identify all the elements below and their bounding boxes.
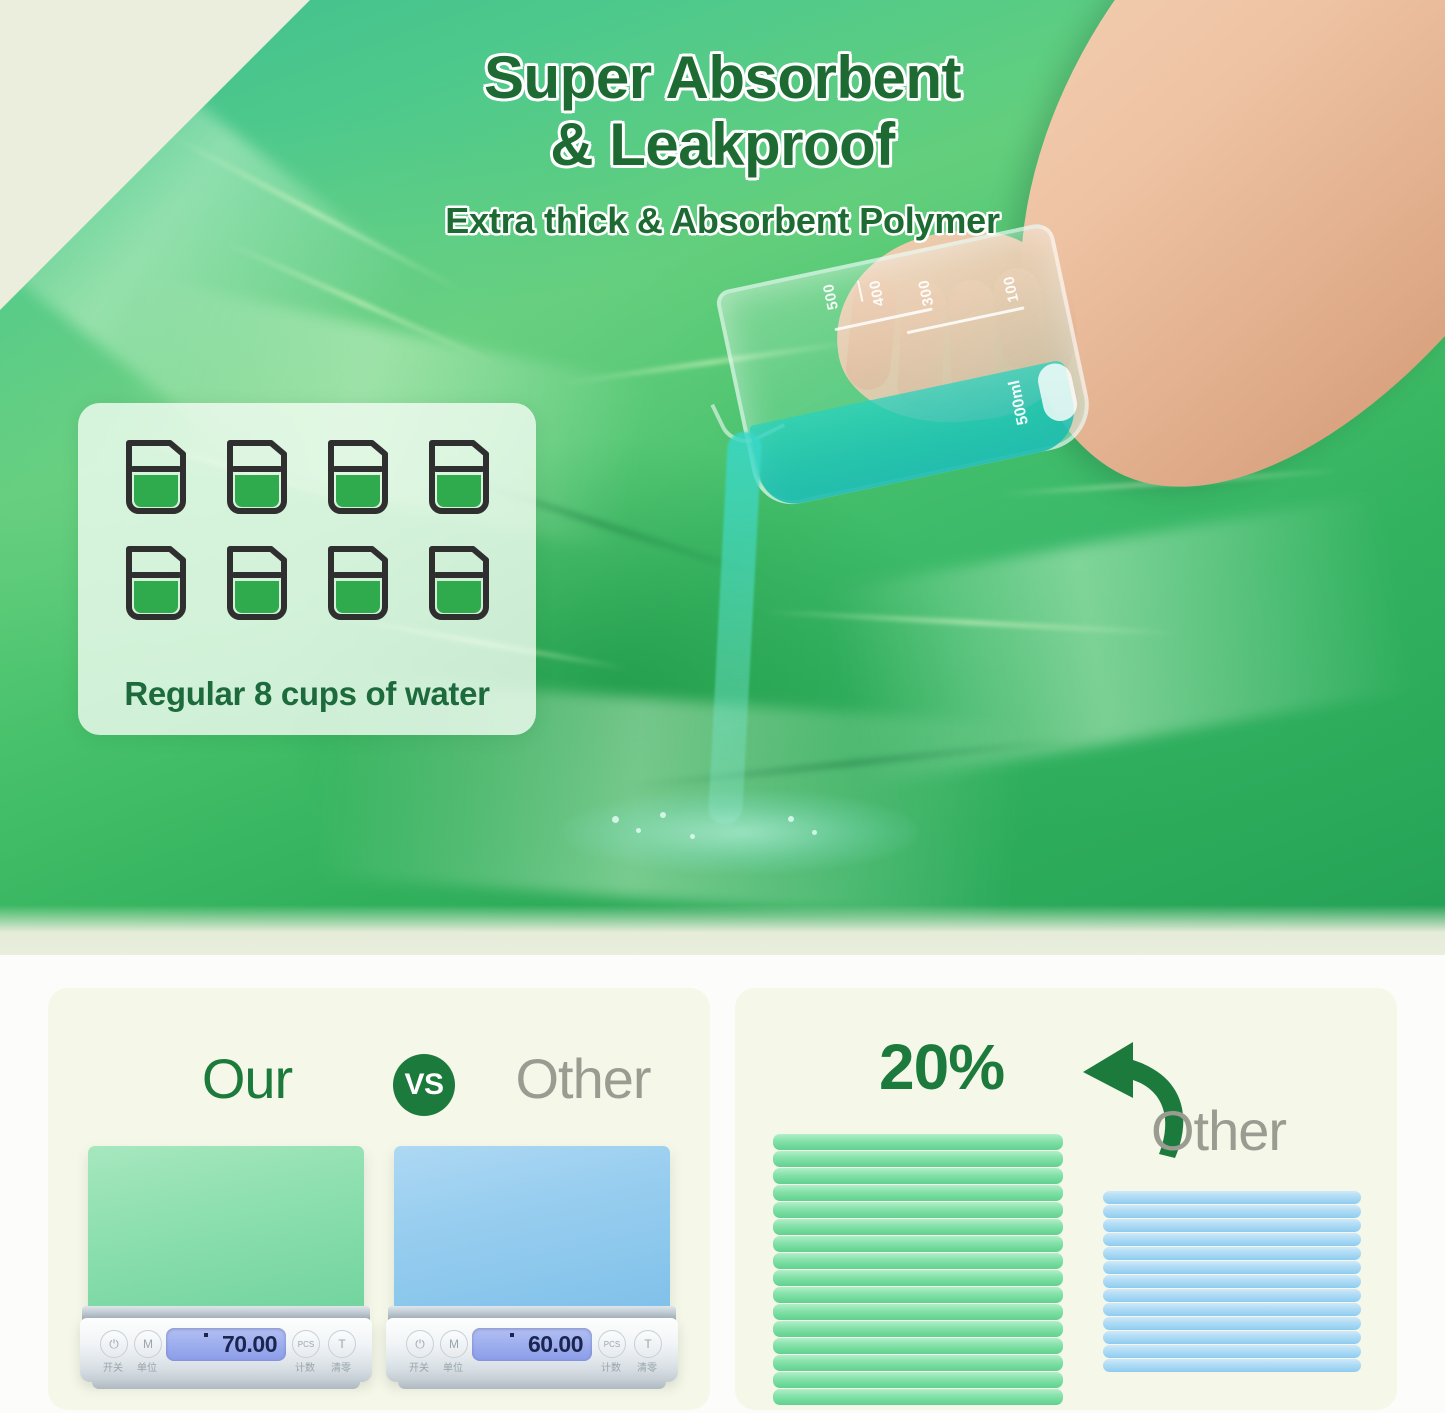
vs-badge: VS — [393, 1054, 455, 1116]
other-label-right: Other — [1151, 1098, 1286, 1163]
scale-foot — [398, 1378, 666, 1389]
unit-button-label: 单位 — [130, 1359, 164, 1374]
lcd-indicator-dot — [204, 1333, 208, 1337]
beaker-cup-icon — [223, 543, 291, 627]
stack-layer — [1103, 1261, 1361, 1274]
scale-reading-other: 60.00 — [528, 1331, 583, 1358]
bubble — [690, 834, 695, 839]
hero-headline: Super Absorbent & Leakproof Extra thick … — [0, 44, 1445, 242]
bubble — [660, 812, 666, 818]
cup-item — [223, 437, 291, 521]
beaker-cup-icon — [122, 437, 190, 521]
count-button-label: 计数 — [594, 1359, 628, 1374]
beaker-cup-icon — [425, 437, 493, 521]
beaker-cup-icon — [425, 543, 493, 627]
stack-layer — [773, 1321, 1063, 1337]
hero-bottom-band — [0, 905, 1445, 955]
stack-layer — [1103, 1317, 1361, 1330]
stack-layer — [1103, 1359, 1361, 1372]
hero-subheadline: Extra thick & Absorbent Polymer — [0, 200, 1445, 242]
count-icon[interactable]: PCS — [598, 1330, 626, 1358]
cup-item — [425, 543, 493, 627]
power-icon[interactable]: ⏻ — [406, 1330, 434, 1358]
stack-layer — [1103, 1345, 1361, 1358]
stack-layer — [773, 1134, 1063, 1150]
bottom-section: Our VS Other 70.00 ⏻ 开关 M 单位 PCS 计数 T 清零 — [0, 955, 1445, 1413]
percent-label: 20% — [879, 1030, 1004, 1104]
tare-icon[interactable]: T — [328, 1330, 356, 1358]
tare-button-label: 清零 — [324, 1359, 358, 1374]
stack-layer — [773, 1389, 1063, 1405]
stack-layer — [1103, 1303, 1361, 1316]
stack-layer — [1103, 1191, 1361, 1204]
pad-our — [88, 1146, 364, 1314]
hero-section: 500 400 300 100 500ml Super Absorbent & … — [0, 0, 1445, 955]
power-icon[interactable]: ⏻ — [100, 1330, 128, 1358]
stack-our — [773, 1134, 1063, 1406]
cup-item — [223, 543, 291, 627]
stack-layer — [1103, 1205, 1361, 1218]
power-button-label: 开关 — [96, 1359, 130, 1374]
stack-layer — [1103, 1331, 1361, 1344]
bubble — [788, 816, 794, 822]
stack-layer — [773, 1372, 1063, 1388]
scale-display-other: 60.00 — [472, 1328, 592, 1361]
other-label: Other — [478, 1046, 688, 1111]
our-label: Our — [152, 1046, 342, 1111]
stack-layer — [1103, 1219, 1361, 1232]
stack-layer — [773, 1185, 1063, 1201]
comparison-header: Our VS Other — [48, 1046, 710, 1120]
mode-icon[interactable]: M — [440, 1330, 468, 1358]
stack-layer — [773, 1287, 1063, 1303]
mode-icon[interactable]: M — [134, 1330, 162, 1358]
bubble — [636, 828, 641, 833]
tare-icon[interactable]: T — [634, 1330, 662, 1358]
stack-layer — [773, 1304, 1063, 1320]
stack-layer — [773, 1219, 1063, 1235]
quantity-comparison-panel: 20% Other — [735, 988, 1397, 1410]
cups-info-card: Regular 8 cups of water — [78, 403, 536, 735]
bubble — [812, 830, 817, 835]
cup-item — [425, 437, 493, 521]
cup-item — [122, 543, 190, 627]
cups-grid — [110, 437, 504, 627]
beaker-cup-icon — [324, 437, 392, 521]
bubble — [612, 816, 619, 823]
stack-layer — [1103, 1247, 1361, 1260]
scale-display-our: 70.00 — [166, 1328, 286, 1361]
count-button-label: 计数 — [288, 1359, 322, 1374]
stack-layer — [773, 1355, 1063, 1371]
water-splash — [560, 790, 920, 874]
stack-layer — [773, 1253, 1063, 1269]
cup-item — [324, 543, 392, 627]
stack-layer — [1103, 1289, 1361, 1302]
scale-foot — [92, 1378, 360, 1389]
weight-comparison-panel: Our VS Other 70.00 ⏻ 开关 M 单位 PCS 计数 T 清零 — [48, 988, 710, 1410]
cups-caption: Regular 8 cups of water — [78, 675, 536, 713]
pad-other — [394, 1146, 670, 1314]
count-icon[interactable]: PCS — [292, 1330, 320, 1358]
stack-layer — [773, 1151, 1063, 1167]
stack-other — [1103, 1191, 1361, 1373]
stack-layer — [773, 1270, 1063, 1286]
stack-layer — [773, 1168, 1063, 1184]
lcd-indicator-dot — [510, 1333, 514, 1337]
stack-layer — [773, 1236, 1063, 1252]
unit-button-label: 单位 — [436, 1359, 470, 1374]
power-button-label: 开关 — [402, 1359, 436, 1374]
headline-line-1: Super Absorbent — [0, 44, 1445, 111]
cup-item — [122, 437, 190, 521]
scale-our: 70.00 ⏻ 开关 M 单位 PCS 计数 T 清零 — [80, 1146, 372, 1394]
stack-layer — [1103, 1275, 1361, 1288]
tare-button-label: 清零 — [630, 1359, 664, 1374]
beaker-cup-icon — [223, 437, 291, 521]
cup-item — [324, 437, 392, 521]
scale-other: 60.00 ⏻ 开关 M 单位 PCS 计数 T 清零 — [386, 1146, 678, 1394]
scale-reading-our: 70.00 — [222, 1331, 277, 1358]
beaker-cup-icon — [324, 543, 392, 627]
stack-layer — [1103, 1233, 1361, 1246]
stack-layer — [773, 1338, 1063, 1354]
stack-layer — [773, 1202, 1063, 1218]
beaker-cup-icon — [122, 543, 190, 627]
headline-line-2: & Leakproof — [0, 111, 1445, 178]
